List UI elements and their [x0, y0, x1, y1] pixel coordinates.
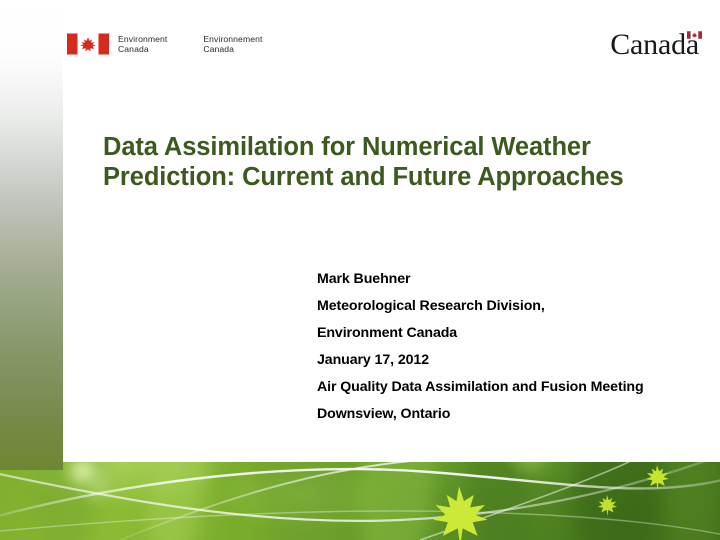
ec-english-line2: Canada	[118, 44, 167, 54]
canada-flag-icon	[687, 31, 702, 39]
presentation-date: January 17, 2012	[317, 352, 687, 369]
meeting-location: Downsview, Ontario	[317, 406, 687, 423]
maple-leaf-icon	[428, 484, 490, 540]
maple-leaf-icon	[644, 464, 670, 491]
title-line-1: Data Assimilation for Numerical Weather	[103, 132, 703, 162]
canada-wordmark: Canada	[610, 30, 702, 60]
environment-canada-logo: Environment Canada Environnement Canada	[67, 33, 262, 55]
presenter-name: Mark Buehner	[317, 271, 687, 288]
presentation-slide: Environment Canada Environnement Canada …	[0, 0, 720, 540]
maple-leaf-icon	[596, 494, 618, 517]
presenter-details-block: Mark Buehner Meteorological Research Div…	[317, 271, 687, 423]
ec-french-text: Environnement Canada	[203, 34, 262, 55]
ec-english-line1: Environment	[118, 34, 167, 44]
ec-french-line2: Canada	[203, 44, 262, 54]
canada-wordmark-text: Canada	[610, 30, 699, 60]
ec-english-text: Environment Canada	[118, 34, 167, 55]
ec-french-line1: Environnement	[203, 34, 262, 44]
title-line-2: Prediction: Current and Future Approache…	[103, 162, 703, 192]
presenter-division: Meteorological Research Division,	[317, 298, 687, 315]
presenter-organization: Environment Canada	[317, 325, 687, 342]
environment-canada-wordmark-text: Environment Canada Environnement Canada	[118, 33, 262, 55]
page-title: Data Assimilation for Numerical Weather …	[103, 132, 703, 192]
canada-flag-icon	[67, 33, 109, 55]
meeting-name: Air Quality Data Assimilation and Fusion…	[317, 379, 687, 396]
left-gradient-strip	[0, 0, 63, 470]
